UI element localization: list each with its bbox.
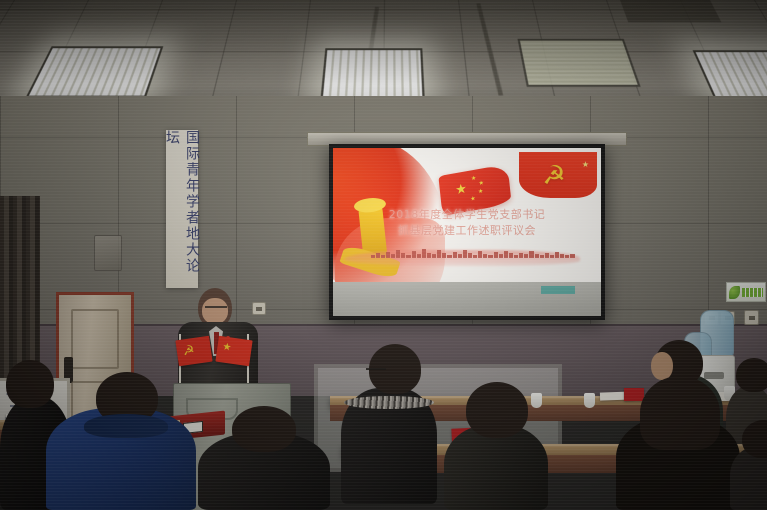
skyline-building-23 [488, 255, 492, 258]
front-center-student-head [232, 406, 296, 452]
skyline-building-10 [422, 249, 426, 258]
skyline-building-3 [386, 252, 390, 258]
skyline-building-5 [396, 250, 400, 258]
skyline-building-6 [401, 253, 405, 258]
skyline-building-8 [412, 251, 416, 258]
vertical-banner: 国际青年学者地大论坛 [166, 130, 198, 288]
long-hair-student-head [640, 376, 720, 450]
classroom-photo-scene: 国际青年学者地大论坛 ★ [0, 0, 767, 510]
skyline-building-12 [432, 254, 436, 257]
skyline-building-19 [468, 253, 472, 258]
flag-big-star: ★ [455, 181, 468, 196]
party-flag-star: ★ [582, 160, 589, 169]
skyline-building-9 [417, 254, 421, 258]
presenter-glasses-icon [205, 306, 227, 313]
back-right-student-head [736, 358, 767, 392]
projection-screen: ★ ★ ★ ★ ★ ★ ☭ 2018年度全体学生党支部书记 抓基层党建工作述职评… [329, 144, 605, 320]
presentation-slide: ★ ★ ★ ★ ★ ★ ☭ 2018年度全体学生党支部书记 抓基层党建工作述职评… [333, 148, 601, 282]
skyline-building-15 [447, 255, 451, 258]
skyline-building-32 [535, 254, 539, 258]
skyline-building-16 [453, 252, 457, 258]
skyline-building-39 [570, 254, 574, 258]
flag-small-star-3: ★ [478, 188, 484, 195]
skyline-building-22 [483, 254, 487, 258]
skyline-building-0 [371, 255, 375, 257]
presenter-face [202, 298, 228, 324]
flag-small-star-4: ★ [470, 195, 476, 202]
desk-china-flag-star: ★ [222, 341, 232, 353]
skyline-building-37 [560, 254, 564, 258]
skyline-building-34 [545, 253, 549, 258]
desk-cup-2 [584, 393, 595, 408]
skyline-building-21 [478, 251, 482, 258]
skyline-building-1 [376, 253, 380, 257]
party-emblem-icon: ☭ [537, 162, 571, 188]
skyline-building-18 [463, 250, 467, 258]
desk-china-flag-icon: ★ [215, 336, 252, 366]
wall-outlet-right-3 [744, 310, 759, 325]
slide-title-line-1: 2018年度全体学生党支部书记 [333, 207, 601, 223]
skyline-building-35 [550, 255, 554, 258]
front-left-dark-head [6, 360, 54, 408]
skyline-graphic [333, 229, 601, 277]
desk-cup-1 [531, 393, 542, 408]
skyline-building-28 [514, 255, 518, 258]
skyline-building-11 [427, 253, 431, 258]
green-eco-poster [726, 282, 766, 302]
skyline-building-20 [473, 255, 477, 258]
skyline-building-38 [565, 255, 569, 258]
skyline-building-31 [529, 251, 533, 257]
skyline-building-24 [494, 252, 498, 258]
flag-small-star-2: ★ [478, 180, 484, 187]
skyline-building-13 [437, 250, 441, 257]
skyline-building-33 [540, 255, 544, 257]
skyline-building-4 [391, 254, 395, 258]
skyline-building-36 [555, 252, 559, 258]
dispenser-tap-icon[interactable] [704, 372, 724, 379]
screen-lower-blank-area [333, 282, 601, 316]
screen-surface: ★ ★ ★ ★ ★ ★ ☭ 2018年度全体学生党支部书记 抓基层党建工作述职评… [333, 148, 601, 316]
skyline-building-27 [509, 253, 513, 257]
skyline-building-30 [524, 254, 528, 257]
vertical-banner-text: 国际青年学者地大论坛 [162, 130, 202, 288]
desk-party-flag-icon: ☭ [175, 336, 212, 366]
desk-red-booklet-back [624, 388, 644, 401]
desk-party-flag-emblem: ☭ [182, 342, 196, 359]
wall-speaker-icon [94, 235, 122, 271]
fur-collar-glasses-icon [366, 368, 386, 374]
screen-teal-tab [541, 286, 575, 294]
skyline-building-17 [458, 254, 462, 258]
flag-small-star-1: ★ [471, 175, 477, 182]
leaf-icon [729, 286, 740, 299]
skyline-building-14 [442, 253, 446, 257]
skyline-building-2 [381, 255, 385, 258]
skyline-building-29 [519, 253, 523, 258]
skyline-building-26 [504, 251, 508, 258]
center-student-head [466, 382, 528, 438]
poster-text-bars [742, 288, 763, 297]
fur-collar-trim [344, 396, 434, 409]
blue-jacket-hood [84, 414, 168, 438]
skyline-building-25 [499, 254, 503, 258]
right-older-man-face [651, 352, 673, 380]
skyline-buildings [371, 245, 575, 258]
skyline-building-7 [406, 255, 410, 258]
